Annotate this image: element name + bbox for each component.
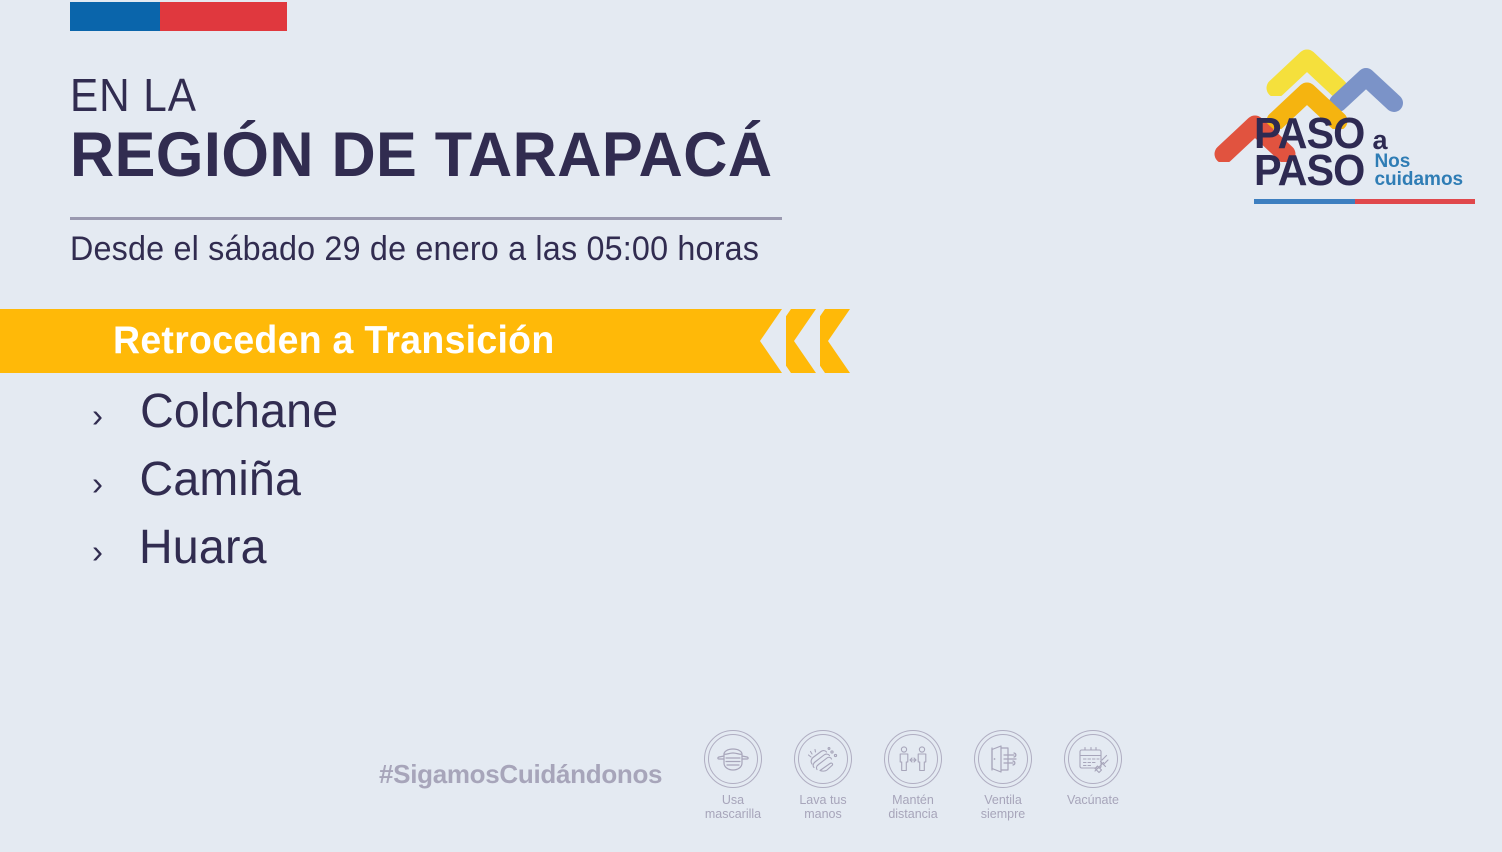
- logo-flag-rule: [1254, 199, 1475, 204]
- logo-nos-cuidamos: Nos cuidamos: [1374, 153, 1463, 190]
- washing-hands-icon: [794, 730, 852, 788]
- face-mask-icon: [704, 730, 762, 788]
- effective-date-text: Desde el sábado 29 de enero a las 05:00 …: [70, 230, 759, 269]
- header-kicker: EN LA: [70, 72, 898, 118]
- logo-line-2: PASO Nos cuidamos: [1254, 153, 1484, 190]
- social-distance-icon: [884, 730, 942, 788]
- header: EN LA REGIÓN DE TARAPACÁ: [70, 72, 970, 188]
- care-label: Usa mascarilla: [705, 793, 761, 821]
- comuna-list: › Colchane › Camiña › Huara: [92, 388, 792, 592]
- care-item-ventilate: Ventila siempre: [967, 730, 1039, 821]
- chevron-left-icon-1: [752, 309, 786, 373]
- care-item-distance: Mantén distancia: [877, 730, 949, 821]
- care-item-mask: Usa mascarilla: [697, 730, 769, 821]
- chevron-left-icon-3: [820, 309, 854, 373]
- comuna-name: Huara: [139, 524, 267, 572]
- care-label: Mantén distancia: [888, 793, 937, 821]
- page-title: REGIÓN DE TARAPACÁ: [70, 122, 943, 188]
- logo-wordmark: PASO a PASO Nos cuidamos: [1254, 116, 1484, 190]
- logo-flag-blue: [1254, 199, 1355, 204]
- flag-blue-block: [70, 2, 160, 31]
- logo-flag-red: [1355, 199, 1475, 204]
- logo-paso-2: PASO: [1254, 153, 1364, 190]
- flag-red-block: [160, 2, 287, 31]
- list-item: › Camiña: [92, 456, 792, 524]
- care-item-vaccine: Vacúnate: [1057, 730, 1129, 821]
- paso-a-paso-logo: PASO a PASO Nos cuidamos: [1218, 48, 1480, 208]
- logo-nos-line2: cuidamos: [1374, 169, 1463, 190]
- calendar-syringe-icon: [1064, 730, 1122, 788]
- campaign-hashtag: #SigamosCuidándonos: [379, 759, 662, 790]
- care-label: Lava tus manos: [799, 793, 846, 821]
- care-label: Ventila siempre: [981, 793, 1025, 821]
- comuna-name: Colchane: [140, 388, 338, 436]
- comuna-name: Camiña: [139, 456, 301, 504]
- chevron-right-icon: ›: [92, 399, 137, 432]
- logo-a: a: [1372, 129, 1387, 153]
- header-divider: [70, 217, 782, 220]
- chevron-left-icon-2: [786, 309, 820, 373]
- chile-flag-bar: [70, 2, 287, 31]
- chevron-right-icon: ›: [92, 467, 137, 500]
- care-measures-row: Usa mascarilla Lava tus manos: [697, 730, 1129, 821]
- care-item-handwash: Lava tus manos: [787, 730, 859, 821]
- open-door-airflow-icon: [974, 730, 1032, 788]
- banner-backward-arrows: [752, 309, 854, 373]
- list-item: › Huara: [92, 524, 792, 592]
- care-label: Vacúnate: [1067, 793, 1119, 807]
- chevron-right-icon: ›: [92, 535, 137, 568]
- list-item: › Colchane: [92, 388, 792, 456]
- phase-banner: Retroceden a Transición: [0, 309, 850, 373]
- phase-banner-label: Retroceden a Transición: [113, 319, 554, 363]
